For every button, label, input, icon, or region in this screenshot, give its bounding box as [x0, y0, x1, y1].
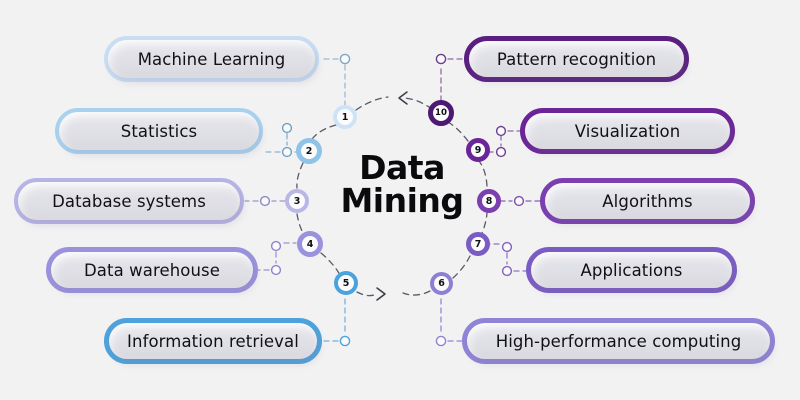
node-9-number: 9 — [475, 145, 482, 156]
mindmap-canvas: Data Mining 1 2 3 4 5 6 7 8 9 10 Machine… — [0, 0, 800, 400]
pill-visualization-label: Visualization — [575, 122, 681, 141]
joint-2a — [283, 124, 292, 133]
center-title: Data Mining — [320, 152, 484, 217]
joint-1 — [340, 54, 349, 63]
joint-8 — [515, 197, 524, 206]
joint-7a — [503, 243, 512, 252]
pill-pattern-recognition-label: Pattern recognition — [497, 50, 656, 69]
pill-statistics-label: Statistics — [121, 122, 197, 141]
arc-5-bottom — [357, 292, 377, 296]
pill-database-systems-label: Database systems — [52, 192, 206, 211]
pill-information-retrieval[interactable]: Information retrieval — [104, 318, 322, 364]
node-5-number: 5 — [343, 278, 350, 289]
pill-applications[interactable]: Applications — [526, 247, 737, 293]
node-8[interactable]: 8 — [477, 189, 501, 213]
node-4-number: 4 — [307, 239, 314, 250]
pill-algorithms[interactable]: Algorithms — [540, 178, 755, 224]
pill-applications-label: Applications — [581, 261, 683, 280]
joint-9b — [497, 148, 506, 157]
joint-10 — [436, 54, 445, 63]
arc-6-bottom — [403, 291, 430, 295]
pill-pattern-recognition[interactable]: Pattern recognition — [464, 36, 689, 82]
pill-data-warehouse-label: Data warehouse — [84, 261, 220, 280]
top-arrowhead — [399, 92, 407, 104]
pill-machine-learning[interactable]: Machine Learning — [104, 36, 319, 82]
node-1[interactable]: 1 — [333, 105, 357, 129]
node-10[interactable]: 10 — [428, 100, 454, 126]
joint-7b — [503, 267, 512, 276]
joint-3 — [261, 197, 270, 206]
joint-5 — [340, 336, 349, 345]
pill-high-performance-computing[interactable]: High-performance computing — [462, 318, 775, 364]
pill-database-systems[interactable]: Database systems — [14, 178, 244, 224]
arc-9-10 — [448, 122, 468, 141]
node-6[interactable]: 6 — [430, 272, 453, 295]
bottom-arrowhead — [377, 288, 385, 300]
node-7[interactable]: 7 — [466, 232, 490, 256]
node-1-number: 1 — [342, 112, 349, 123]
center-title-line1: Data — [320, 152, 484, 185]
pill-algorithms-label: Algorithms — [602, 192, 692, 211]
node-3[interactable]: 3 — [285, 189, 309, 213]
node-7-number: 7 — [475, 239, 482, 250]
node-8-number: 8 — [486, 196, 493, 207]
center-title-line2: Mining — [320, 185, 484, 218]
node-2-number: 2 — [306, 146, 313, 157]
pill-high-performance-computing-label: High-performance computing — [496, 332, 742, 351]
node-6-number: 6 — [438, 278, 445, 289]
node-9[interactable]: 9 — [466, 138, 490, 162]
pill-information-retrieval-label: Information retrieval — [127, 332, 299, 351]
node-5[interactable]: 5 — [334, 271, 358, 295]
arc-1-top — [356, 97, 388, 110]
joint-4a — [272, 242, 281, 251]
joint-2b — [283, 148, 292, 157]
joint-9a — [497, 127, 506, 136]
node-3-number: 3 — [294, 196, 301, 207]
node-2[interactable]: 2 — [296, 138, 322, 164]
pill-data-warehouse[interactable]: Data warehouse — [46, 247, 258, 293]
node-4[interactable]: 4 — [297, 231, 323, 257]
node-10-number: 10 — [435, 108, 447, 118]
joint-4b — [272, 266, 281, 275]
arc-10-1-top — [404, 98, 432, 109]
pill-machine-learning-label: Machine Learning — [138, 50, 286, 69]
arc-6-7 — [453, 256, 470, 278]
arc-4-5 — [321, 253, 340, 275]
arc-2-3 — [297, 163, 303, 188]
pill-statistics[interactable]: Statistics — [55, 108, 263, 154]
joint-6 — [436, 336, 445, 345]
pill-visualization[interactable]: Visualization — [520, 108, 735, 154]
